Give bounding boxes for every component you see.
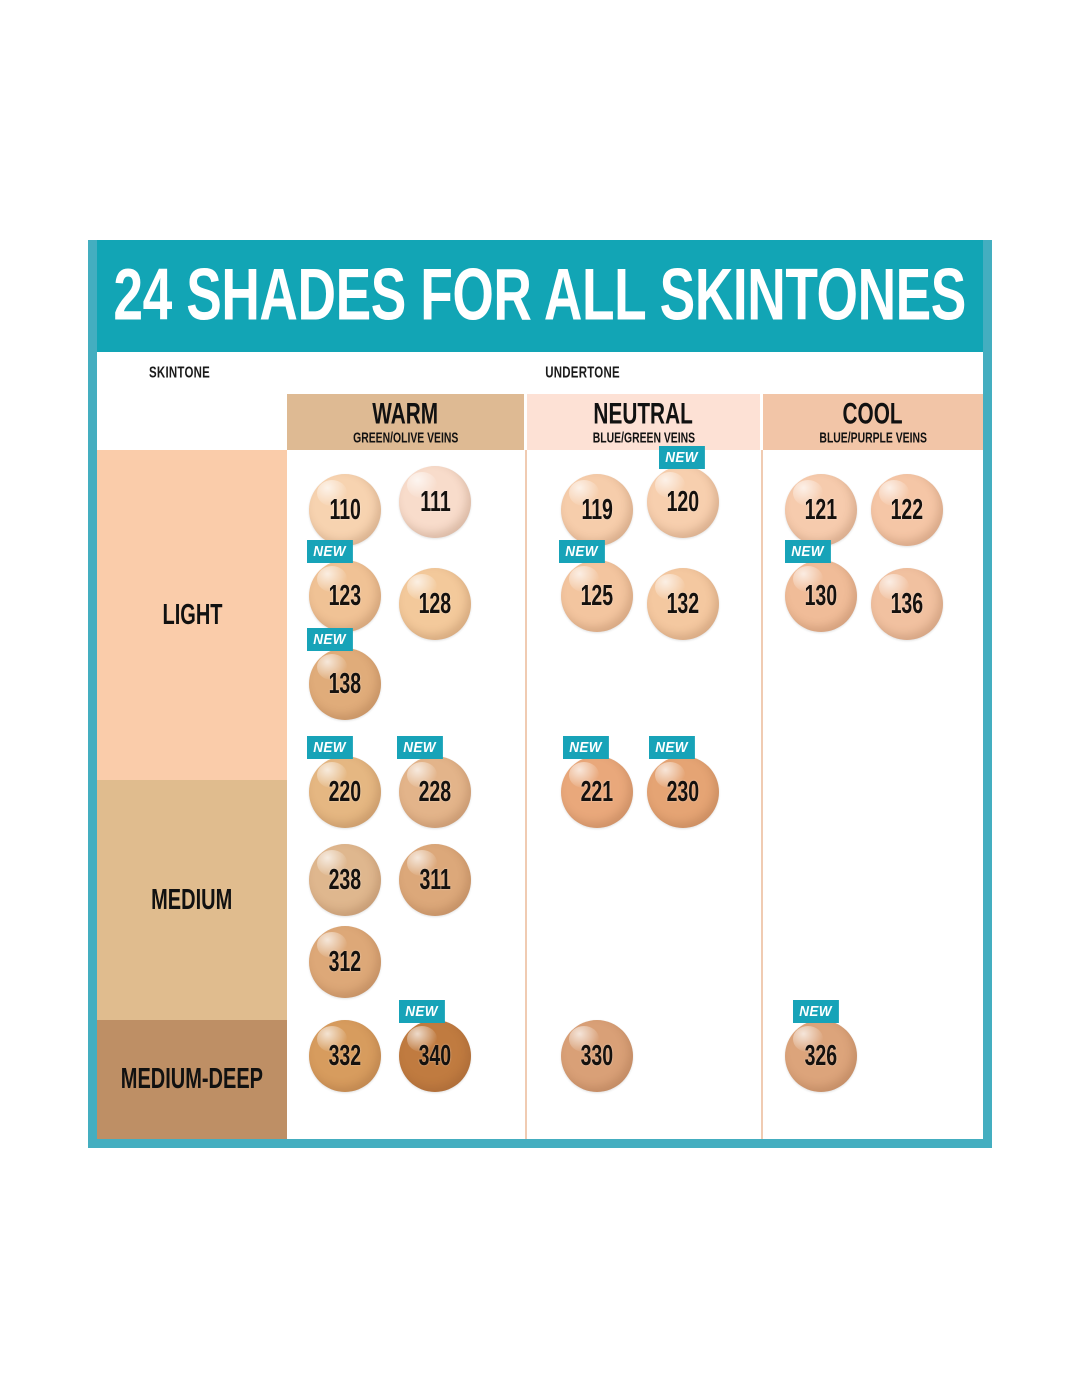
shade-circle-132: 132 [647, 568, 719, 640]
new-badge-120: NEW [659, 446, 705, 469]
shade-code-326: 326 [805, 1042, 838, 1071]
skintone-band-medium-deep: MEDIUM-DEEP [97, 1020, 287, 1139]
shade-circle-121: 121 [785, 474, 857, 546]
shade-circle-125: 125 [561, 560, 633, 632]
shade-code-125: 125 [581, 582, 614, 611]
skintone-band-light: LIGHT [97, 450, 287, 780]
shade-swatch-136[interactable]: 136 [871, 568, 943, 640]
shade-code-138: 138 [329, 670, 362, 699]
shade-code-136: 136 [891, 590, 924, 619]
header-cell-cool: COOL BLUE/PURPLE VEINS [763, 394, 983, 450]
shade-circle-340: 340 [399, 1020, 471, 1092]
shade-code-130: 130 [805, 582, 838, 611]
shade-swatch-111[interactable]: 111 [399, 466, 471, 538]
shade-swatch-312[interactable]: 312 [309, 926, 381, 998]
shade-code-132: 132 [667, 590, 700, 619]
shade-code-221: 221 [581, 778, 614, 807]
shade-swatch-122[interactable]: 122 [871, 474, 943, 546]
shade-code-121: 121 [805, 496, 838, 525]
undertone-title-cool: COOL [843, 398, 903, 428]
shade-circle-221: 221 [561, 756, 633, 828]
shade-code-110: 110 [329, 496, 360, 525]
shade-circle-312: 312 [309, 926, 381, 998]
new-badge-340: NEW [399, 1000, 445, 1023]
shade-grid-body: LIGHT MEDIUM MEDIUM-DEEP 110111123NEW128… [97, 450, 983, 1139]
shade-swatch-230[interactable]: 230NEW [647, 756, 719, 828]
undertone-header-row: WARM GREEN/OLIVE VEINS NEUTRAL BLUE/GREE… [97, 394, 983, 450]
new-badge-230: NEW [649, 736, 695, 759]
new-badge-125: NEW [559, 540, 605, 563]
shade-circle-136: 136 [871, 568, 943, 640]
undertone-title-warm: WARM [373, 398, 439, 428]
new-badge-220: NEW [307, 736, 353, 759]
shade-code-122: 122 [891, 496, 924, 525]
shade-circle-220: 220 [309, 756, 381, 828]
shade-circle-332: 332 [309, 1020, 381, 1092]
shade-swatch-330[interactable]: 330 [561, 1020, 633, 1092]
shade-swatch-228[interactable]: 228NEW [399, 756, 471, 828]
shade-code-330: 330 [581, 1042, 614, 1071]
skintone-band-medium: MEDIUM [97, 780, 287, 1020]
shade-swatch-340[interactable]: 340NEW [399, 1020, 471, 1092]
new-badge-123: NEW [307, 540, 353, 563]
shade-swatch-119[interactable]: 119 [561, 474, 633, 546]
header-cell-skintone-spacer [97, 394, 287, 450]
shade-swatch-128[interactable]: 128 [399, 568, 471, 640]
undertone-title-neutral: NEUTRAL [594, 398, 693, 428]
shade-circle-111: 111 [399, 466, 471, 538]
shade-code-238: 238 [329, 866, 362, 895]
shade-circle-122: 122 [871, 474, 943, 546]
shade-swatch-221[interactable]: 221NEW [561, 756, 633, 828]
shade-swatch-125[interactable]: 125NEW [561, 560, 633, 632]
skintone-label-medium: MEDIUM [151, 886, 232, 915]
shade-code-332: 332 [329, 1042, 362, 1071]
shade-column-neutral: 119120NEW125NEW132221NEW230NEW330 [527, 450, 761, 1139]
shade-code-119: 119 [581, 496, 612, 525]
page-title: 24 SHADES FOR ALL SKINTONES [114, 259, 967, 332]
new-badge-130: NEW [785, 540, 831, 563]
shade-circle-330: 330 [561, 1020, 633, 1092]
shade-circle-238: 238 [309, 844, 381, 916]
new-badge-221: NEW [563, 736, 609, 759]
shade-code-228: 228 [419, 778, 452, 807]
shade-swatch-123[interactable]: 123NEW [309, 560, 381, 632]
undertone-subtitle-warm: GREEN/OLIVE VEINS [353, 430, 458, 445]
shade-code-311: 311 [419, 866, 450, 895]
shade-circle-230: 230 [647, 756, 719, 828]
shade-circle-110: 110 [309, 474, 381, 546]
shade-swatch-110[interactable]: 110 [309, 474, 381, 546]
shade-swatch-332[interactable]: 332 [309, 1020, 381, 1092]
title-banner: 24 SHADES FOR ALL SKINTONES [97, 240, 983, 352]
shade-swatch-130[interactable]: 130NEW [785, 560, 857, 632]
skintone-label-light: LIGHT [162, 601, 222, 630]
shade-swatch-238[interactable]: 238 [309, 844, 381, 916]
undertone-subtitle-cool: BLUE/PURPLE VEINS [819, 430, 926, 445]
undertone-subtitle-neutral: BLUE/GREEN VEINS [592, 430, 694, 445]
shade-circle-326: 326 [785, 1020, 857, 1092]
axis-labels-row: SKINTONE UNDERTONE [97, 352, 983, 394]
shade-circle-228: 228 [399, 756, 471, 828]
shade-chart-card: 24 SHADES FOR ALL SKINTONES SKINTONE UND… [88, 240, 992, 1148]
shade-swatch-132[interactable]: 132 [647, 568, 719, 640]
skintone-axis-label: SKINTONE [149, 363, 210, 381]
new-badge-138: NEW [307, 628, 353, 651]
shade-swatch-311[interactable]: 311 [399, 844, 471, 916]
shade-code-111: 111 [420, 488, 450, 517]
shade-circle-130: 130 [785, 560, 857, 632]
new-badge-228: NEW [397, 736, 443, 759]
shade-circle-138: 138 [309, 648, 381, 720]
shade-code-220: 220 [329, 778, 362, 807]
shade-chart-inner: 24 SHADES FOR ALL SKINTONES SKINTONE UND… [97, 240, 983, 1139]
shade-code-340: 340 [419, 1042, 452, 1071]
shade-circle-123: 123 [309, 560, 381, 632]
undertone-axis-label: UNDERTONE [545, 363, 620, 381]
shade-swatch-138[interactable]: 138NEW [309, 648, 381, 720]
shade-swatch-326[interactable]: 326NEW [785, 1020, 857, 1092]
shade-swatch-220[interactable]: 220NEW [309, 756, 381, 828]
shade-circle-119: 119 [561, 474, 633, 546]
shade-circle-128: 128 [399, 568, 471, 640]
header-cell-warm: WARM GREEN/OLIVE VEINS [287, 394, 524, 450]
shade-code-123: 123 [329, 582, 362, 611]
shade-circle-311: 311 [399, 844, 471, 916]
shade-code-120: 120 [667, 488, 700, 517]
shade-circle-120: 120 [647, 466, 719, 538]
shade-code-128: 128 [419, 590, 452, 619]
shade-swatch-120[interactable]: 120NEW [647, 466, 719, 538]
shade-column-cool: 121122130NEW136326NEW [763, 450, 983, 1139]
skintone-label-medium-deep: MEDIUM-DEEP [121, 1065, 263, 1094]
shade-column-warm: 110111123NEW128138NEW220NEW228NEW2383113… [287, 450, 525, 1139]
shade-swatch-121[interactable]: 121 [785, 474, 857, 546]
shade-code-312: 312 [329, 948, 362, 977]
shade-code-230: 230 [667, 778, 700, 807]
new-badge-326: NEW [793, 1000, 839, 1023]
header-cell-neutral: NEUTRAL BLUE/GREEN VEINS [527, 394, 760, 450]
